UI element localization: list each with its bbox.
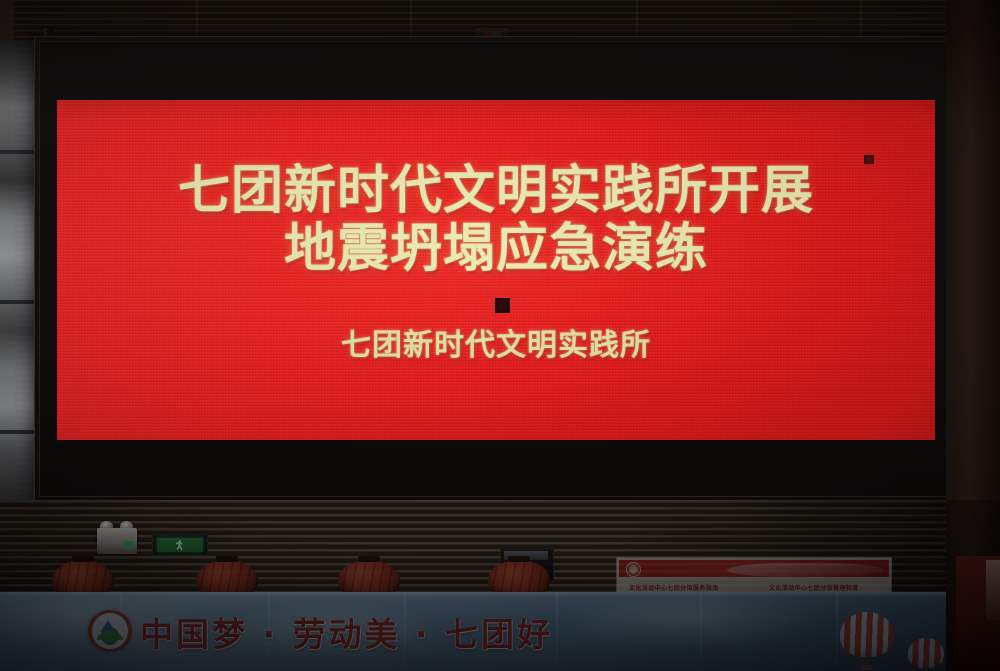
- emergency-light-status-led: [124, 541, 133, 547]
- hot-air-balloon-small: [908, 638, 944, 671]
- led-display-panel: 七团新时代文明实践所开展 地震坍塌应急演练 七团新时代文明实践所: [57, 100, 935, 440]
- lantern-cap: [216, 556, 238, 562]
- dead-pixel-block-upper-right: [864, 155, 874, 164]
- led-headline: 七团新时代文明实践所开展 地震坍塌应急演练: [178, 162, 814, 278]
- led-subtitle: 七团新时代文明实践所: [341, 320, 651, 364]
- exit-sign-panel: [157, 538, 203, 552]
- notice-board-header: [619, 560, 889, 577]
- dead-pixel-block-center: [495, 298, 510, 313]
- led-headline-line-1: 七团新时代文明实践所开展: [178, 161, 814, 221]
- banner-fold: [700, 592, 702, 671]
- balloon-basket: [862, 665, 873, 670]
- banner-fold: [836, 592, 838, 671]
- hot-air-balloon-large: [840, 612, 894, 670]
- photo-scene: 七团新时代文明实践所开展 地震坍塌应急演练 七团新时代文明实践所 文化活动中心七…: [0, 0, 1000, 671]
- right-pillar-highlight: [986, 560, 1000, 620]
- balloon-envelope: [840, 612, 894, 657]
- cloud-wash: [560, 592, 820, 652]
- lantern-cap: [358, 556, 380, 562]
- banner-fold: [556, 592, 558, 671]
- notice-text-left: 文化活动中心七团分馆服务指南: [629, 583, 719, 592]
- led-headline-line-2: 地震坍塌应急演练: [178, 220, 814, 278]
- notice-board-emblem: [626, 562, 641, 577]
- running-man-icon: [176, 540, 185, 551]
- notice-text-right: 文化活动中心七团分馆管理制度: [769, 583, 859, 592]
- exit-sign: [152, 534, 208, 556]
- notice-swoosh-decoration: [727, 563, 884, 577]
- lantern-cap: [508, 556, 530, 562]
- lantern-cap: [72, 556, 94, 562]
- balloon-rope: [926, 667, 927, 671]
- banner-slogan-text: 中国梦 · 劳动美 · 七团好: [140, 608, 553, 656]
- balloon-envelope: [908, 638, 944, 668]
- notice-board: 文化活动中心七团分馆服务指南 文化活动中心七团分馆管理制度: [616, 557, 892, 597]
- led-text-block: 七团新时代文明实践所开展 地震坍塌应急演练 七团新时代文明实践所: [57, 100, 935, 440]
